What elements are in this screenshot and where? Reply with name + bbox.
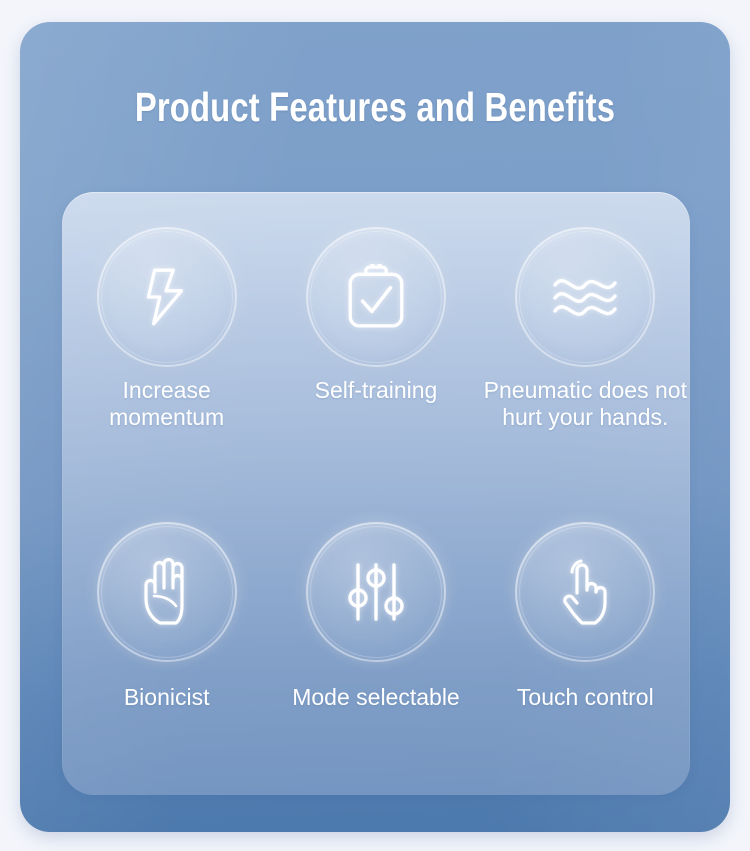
feature-label: Increase momentum (62, 377, 271, 431)
air-waves-icon (550, 271, 620, 323)
feature-item-touch-control[interactable]: Touch control (481, 494, 690, 711)
feature-label: Touch control (517, 684, 654, 711)
feature-label: Mode selectable (292, 684, 460, 711)
feature-label: Pneumatic does not hurt your hands. (484, 377, 687, 431)
icon-circle (515, 522, 655, 662)
icon-circle (515, 227, 655, 367)
feature-item-increase-momentum[interactable]: Increase momentum (62, 192, 271, 431)
feature-item-pneumatic[interactable]: Pneumatic does not hurt your hands. (481, 192, 690, 431)
page-title: Product Features and Benefits (91, 84, 659, 131)
feature-label: Bionicist (124, 684, 210, 711)
feature-item-self-training[interactable]: Self-training (271, 192, 480, 404)
feature-item-bionicist[interactable]: Bionicist (62, 494, 271, 711)
touch-tap-hand-icon (556, 558, 614, 626)
product-features-card: Product Features and Benefits Increase m… (20, 22, 730, 832)
open-hand-icon (138, 558, 196, 626)
feature-item-mode-selectable[interactable]: Mode selectable (271, 494, 480, 711)
icon-circle (97, 522, 237, 662)
screenshot-root: Product Features and Benefits Increase m… (0, 0, 750, 851)
feature-label: Self-training (315, 377, 438, 404)
sliders-icon (347, 561, 405, 623)
features-grid: Increase momentum Self-training (62, 192, 690, 795)
icon-circle (306, 227, 446, 367)
lightning-bolt-icon (134, 264, 200, 330)
icon-circle (97, 227, 237, 367)
icon-circle (306, 522, 446, 662)
features-panel: Increase momentum Self-training (62, 192, 690, 795)
clipboard-check-icon (346, 264, 406, 330)
